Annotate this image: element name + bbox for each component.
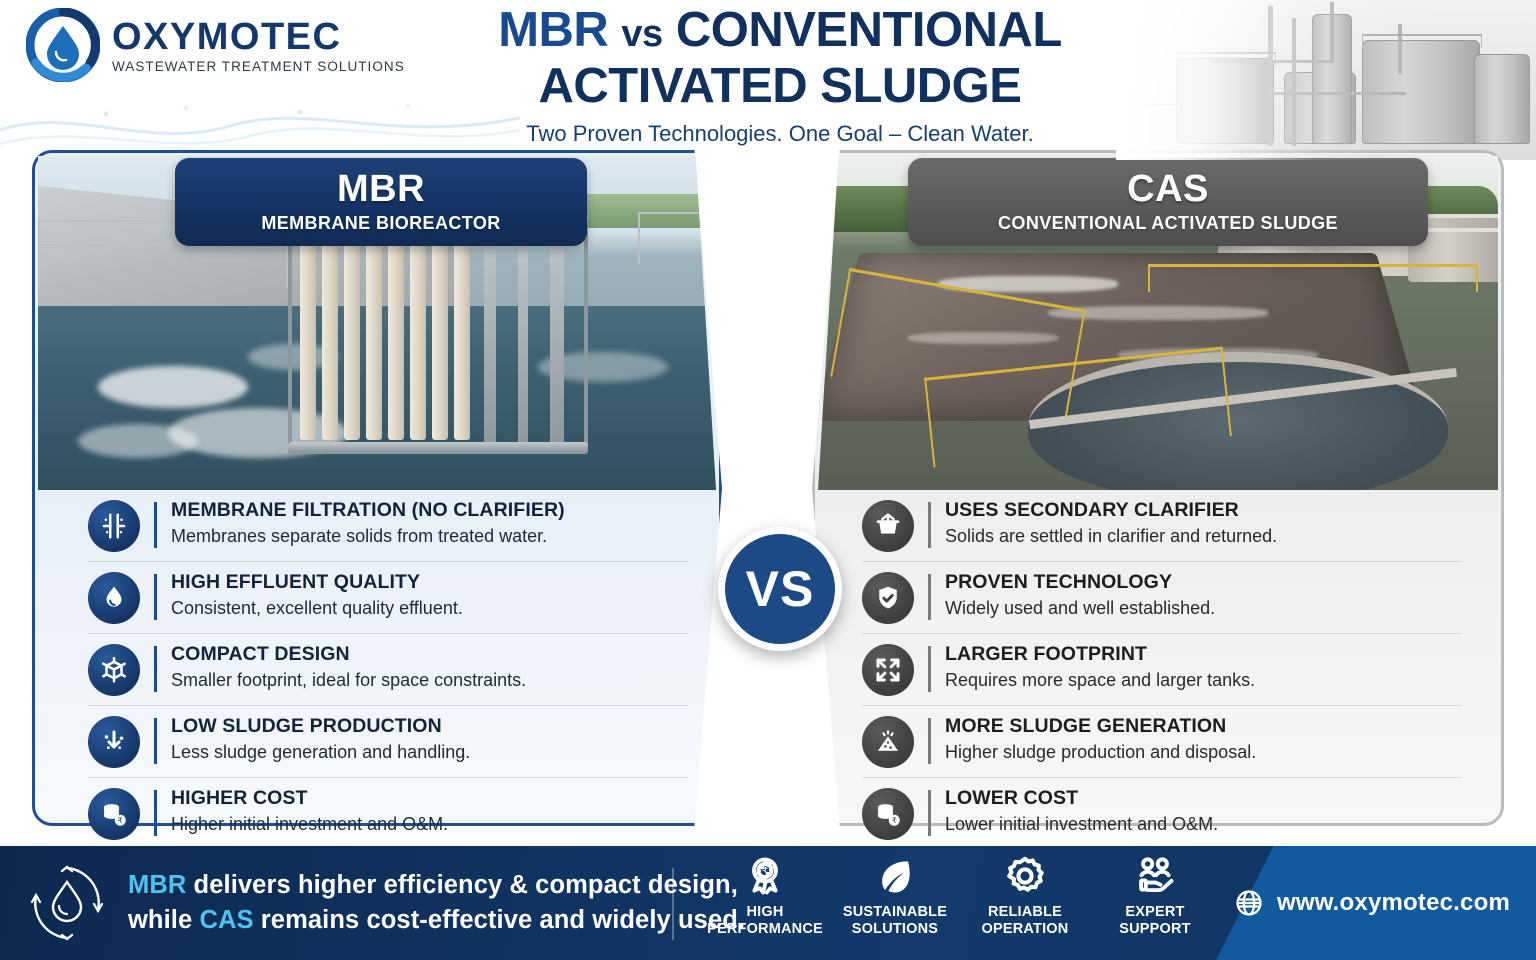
- feature-desc: Membranes separate solids from treated w…: [171, 525, 688, 547]
- feature-accent-bar: [154, 502, 157, 548]
- feature-item[interactable]: MEMBRANE FILTRATION (NO CLARIFIER) Membr…: [88, 490, 688, 561]
- cas-feature-list: USES SECONDARY CLARIFIER Solids are sett…: [862, 490, 1462, 849]
- footer-summary-group: MBR delivers higher efficiency & compact…: [24, 846, 745, 960]
- feature-desc: Requires more space and larger tanks.: [945, 669, 1462, 691]
- summary-line1-rest: delivers higher efficiency & compact des…: [186, 871, 738, 899]
- website-link[interactable]: www.oxymotec.com: [1234, 846, 1510, 960]
- feature-desc: Widely used and well established.: [945, 597, 1462, 619]
- title-conventional: CONVENTIONAL: [676, 3, 1062, 57]
- cas-badge-title: CAS: [1127, 170, 1209, 208]
- expand-arrows-icon: [862, 644, 914, 696]
- water-drop-recycle-icon: [24, 860, 110, 946]
- feature-desc: Higher initial investment and O&M.: [171, 813, 688, 835]
- membrane-filter-icon: [88, 500, 140, 552]
- feature-accent-bar: [928, 646, 931, 692]
- feature-title: LOWER COST: [945, 787, 1462, 810]
- mbr-feature-list: MEMBRANE FILTRATION (NO CLARIFIER) Membr…: [88, 490, 688, 849]
- feature-title: MORE SLUDGE GENERATION: [945, 715, 1462, 738]
- usp-line1: RELIABLE: [988, 904, 1062, 920]
- usp-item: EXPERTSUPPORT: [1090, 854, 1220, 938]
- svg-text:₹: ₹: [118, 816, 123, 825]
- feature-item[interactable]: LARGER FOOTPRINT Requires more space and…: [862, 633, 1462, 705]
- gear-icon: [1003, 854, 1047, 898]
- title-vs: vs: [621, 13, 662, 55]
- usp-line2: SOLUTIONS: [852, 921, 938, 937]
- feature-accent-bar: [154, 646, 157, 692]
- brand-logo[interactable]: OXYMOTEC WASTEWATER TREATMENT SOLUTIONS: [26, 8, 405, 82]
- feature-item[interactable]: LOW SLUDGE PRODUCTION Less sludge genera…: [88, 705, 688, 777]
- feature-accent-bar: [928, 502, 931, 548]
- feature-title: USES SECONDARY CLARIFIER: [945, 499, 1462, 522]
- feature-desc: Smaller footprint, ideal for space const…: [171, 669, 688, 691]
- down-arrow-sludge-icon: [88, 716, 140, 768]
- usp-line2: OPERATION: [982, 921, 1069, 937]
- feature-accent-bar: [154, 718, 157, 764]
- coins-rupee-icon: ₹: [862, 788, 914, 840]
- cas-badge: CAS CONVENTIONAL ACTIVATED SLUDGE: [908, 158, 1428, 246]
- feature-item[interactable]: USES SECONDARY CLARIFIER Solids are sett…: [862, 490, 1462, 561]
- industrial-plant-photo: [1116, 0, 1536, 160]
- feature-desc: Solids are settled in clarifier and retu…: [945, 525, 1462, 547]
- feature-title: LOW SLUDGE PRODUCTION: [171, 715, 688, 738]
- mbr-badge: MBR MEMBRANE BIOREACTOR: [175, 158, 587, 246]
- feature-accent-bar: [928, 718, 931, 764]
- feature-item[interactable]: COMPACT DESIGN Smaller footprint, ideal …: [88, 633, 688, 705]
- feature-title: HIGH EFFLUENT QUALITY: [171, 571, 688, 594]
- feature-accent-bar: [928, 574, 931, 620]
- usp-line1: HIGH: [746, 904, 783, 920]
- leaf-icon: [873, 854, 917, 898]
- feature-accent-bar: [154, 790, 157, 836]
- usp-line1: EXPERT: [1125, 904, 1184, 920]
- hands-support-people-icon: [1133, 854, 1177, 898]
- feature-desc: Less sludge generation and handling.: [171, 741, 688, 763]
- feature-title: HIGHER COST: [171, 787, 688, 810]
- feature-item[interactable]: PROVEN TECHNOLOGY Widely used and well e…: [862, 561, 1462, 633]
- shield-check-icon: [862, 572, 914, 624]
- sludge-pile-icon: [862, 716, 914, 768]
- award-ribbon-rupee-icon: ₹: [743, 854, 787, 898]
- brand-tagline: WASTEWATER TREATMENT SOLUTIONS: [112, 59, 405, 74]
- feature-title: COMPACT DESIGN: [171, 643, 688, 666]
- feature-item[interactable]: HIGH EFFLUENT QUALITY Consistent, excell…: [88, 561, 688, 633]
- cas-badge-subtitle: CONVENTIONAL ACTIVATED SLUDGE: [998, 213, 1338, 234]
- feature-desc: Lower initial investment and O&M.: [945, 813, 1462, 835]
- feature-title: MEMBRANE FILTRATION (NO CLARIFIER): [171, 499, 688, 522]
- feature-accent-bar: [928, 790, 931, 836]
- feature-accent-bar: [154, 574, 157, 620]
- vs-badge: VS: [718, 527, 842, 651]
- brand-name: OXYMOTEC: [112, 17, 405, 57]
- feature-title: PROVEN TECHNOLOGY: [945, 571, 1462, 594]
- water-drop-icon: [88, 572, 140, 624]
- feature-title: LARGER FOOTPRINT: [945, 643, 1462, 666]
- summary-mbr-hl: MBR: [128, 871, 186, 899]
- mbr-badge-subtitle: MEMBRANE BIOREACTOR: [261, 213, 500, 234]
- footer-summary-text: MBR delivers higher efficiency & compact…: [128, 868, 745, 938]
- website-url: www.oxymotec.com: [1277, 889, 1510, 917]
- footer-usp-list: ₹ HIGHPERFORMANCE SUSTAINABLESOLUTIONS R…: [700, 854, 1220, 938]
- water-drop-swirl-icon: [26, 8, 100, 82]
- usp-line1: SUSTAINABLE: [843, 904, 947, 920]
- title-mbr: MBR: [498, 3, 608, 57]
- coins-rupee-icon: ₹: [88, 788, 140, 840]
- page-subtitle: Two Proven Technologies. One Goal – Clea…: [380, 121, 1180, 147]
- footer-bar: MBR delivers higher efficiency & compact…: [0, 846, 1536, 960]
- vs-label: VS: [746, 560, 815, 618]
- usp-line2: PERFORMANCE: [707, 921, 823, 937]
- feature-item[interactable]: ₹ LOWER COST Lower initial investment an…: [862, 777, 1462, 849]
- globe-icon: [1234, 888, 1264, 918]
- title-line2: ACTIVATED SLUDGE: [539, 59, 1022, 113]
- feature-desc: Consistent, excellent quality effluent.: [171, 597, 688, 619]
- feature-item[interactable]: ₹ HIGHER COST Higher initial investment …: [88, 777, 688, 849]
- usp-item: ₹ HIGHPERFORMANCE: [700, 854, 830, 938]
- footer-divider: [672, 868, 674, 940]
- summary-line2-a: while: [128, 906, 199, 934]
- feature-desc: Higher sludge production and disposal.: [945, 741, 1462, 763]
- usp-item: RELIABLEOPERATION: [960, 854, 1090, 938]
- svg-text:₹: ₹: [892, 816, 897, 825]
- membrane-rack: [288, 214, 588, 454]
- svg-text:₹: ₹: [762, 866, 768, 877]
- usp-line2: SUPPORT: [1119, 921, 1191, 937]
- feature-item[interactable]: MORE SLUDGE GENERATION Higher sludge pro…: [862, 705, 1462, 777]
- clarifier-tank-icon: [862, 500, 914, 552]
- page-title: MBR vs CONVENTIONAL ACTIVATED SLUDGE Two…: [380, 4, 1180, 147]
- compact-cube-icon: [88, 644, 140, 696]
- summary-cas-hl: CAS: [199, 906, 253, 934]
- usp-item: SUSTAINABLESOLUTIONS: [830, 854, 960, 938]
- comparison-stage: MBR MEMBRANE BIOREACTOR CAS CONVENTIONAL…: [0, 150, 1536, 846]
- mbr-badge-title: MBR: [337, 170, 425, 208]
